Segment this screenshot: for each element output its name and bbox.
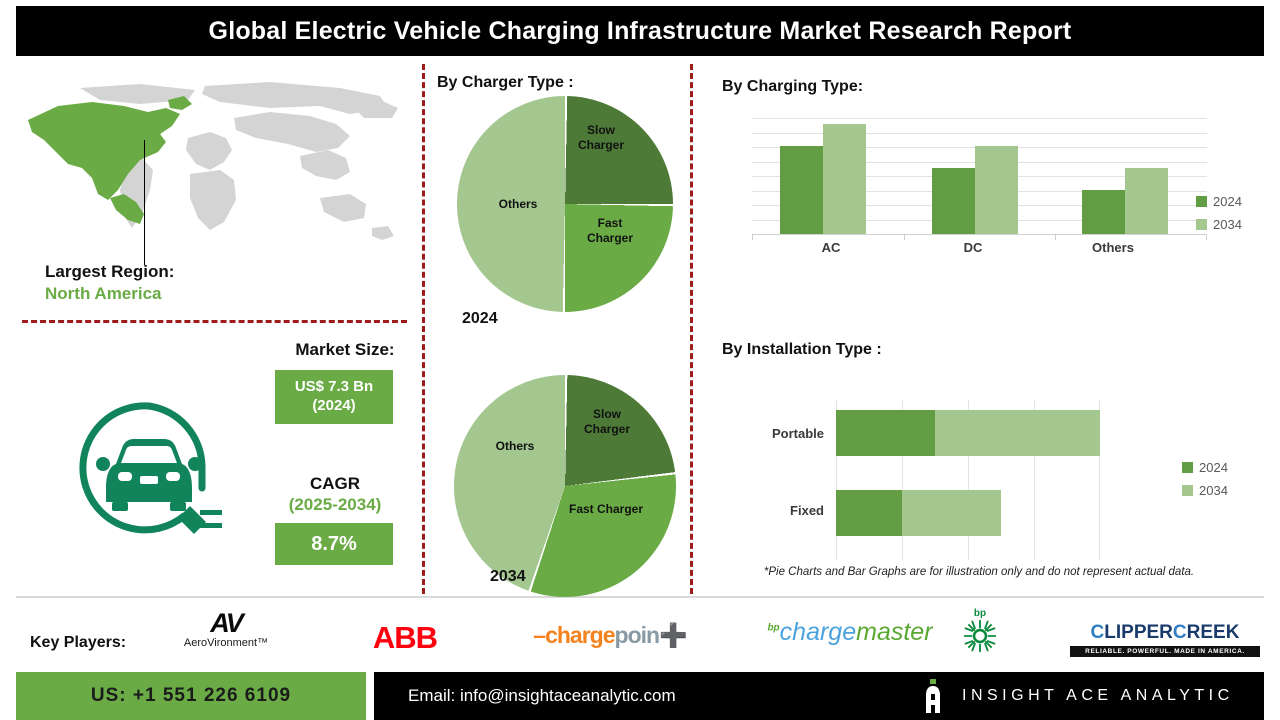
map-leader-line [144,140,145,265]
legend-label-2034: 2034 [1199,483,1228,498]
pie2024-slow-label: SlowCharger [571,123,631,153]
clippercreek-mark-d: REEK [1187,622,1240,643]
cagr-value-box: 8.7% [275,523,393,565]
installation-type-legend: 2024 2034 [1182,460,1228,506]
logo-aerovironment: AV AeroVironment™ [166,608,286,649]
category-label-portable: Portable [724,426,824,441]
footer-brand-text: INSIGHT ACE ANALYTIC [962,687,1234,705]
category-label-fixed: Fixed [724,503,824,518]
bp-helios-icon [963,619,997,653]
chart-disclaimer: *Pie Charts and Bar Graphs are for illus… [744,566,1214,578]
legend-item-2034: 2034 [1196,217,1242,232]
clippercreek-mark-c: C [1173,622,1187,643]
legend-label-2024: 2024 [1199,460,1228,475]
aerovironment-mark: AV [166,608,286,639]
ev-charging-car-icon [66,392,232,558]
clippercreek-mark: CLIPPERCREEK [1070,622,1260,644]
bar-dc-2024 [932,168,975,234]
charging-type-legend: 2024 2034 [1196,194,1242,240]
gridline [752,118,1207,119]
axis-tick [752,235,753,240]
charging-type-title: By Charging Type: [722,78,863,96]
pie-chart-2034 [454,375,676,597]
market-size-year: (2024) [312,397,355,416]
legend-item-2024: 2024 [1196,194,1242,209]
market-size-value: US$ 7.3 Bn [295,378,373,397]
cagr-label: CAGR [272,474,398,494]
footer-phone-block[interactable]: US: +1 551 226 6109 [16,672,366,720]
chargemaster-mark-b: master [856,618,932,646]
market-size-value-box: US$ 7.3 Bn (2024) [275,370,393,424]
pie2024-others-label: Others [488,197,548,212]
axis-tick [904,235,905,240]
logo-bp: bp [950,608,1010,658]
divider-vertical-left [422,64,425,594]
legend-item-2034: 2034 [1182,483,1228,498]
charger-type-title: By Charger Type : [437,74,574,92]
footer-black-bar: Email: info@insightaceanalytic.com INSIG… [374,672,1264,720]
hbar-portable-2024 [836,410,935,456]
legend-swatch-2024 [1196,196,1207,207]
chargepoint-mark-b: poin➕ [615,622,687,648]
category-label-ac: AC [786,240,876,255]
bar-others-2024 [1082,190,1125,234]
chargemaster-bp-sup: bp [767,623,779,634]
pie2034-fast-label: Fast Charger [556,502,656,517]
installation-type-title: By Installation Type : [722,341,882,359]
header-banner: Global Electric Vehicle Charging Infrast… [16,6,1264,56]
infographic-page: Global Electric Vehicle Charging Infrast… [0,0,1280,720]
bar-dc-2034 [975,146,1018,234]
divider-vertical-right [690,64,693,594]
abb-mark: ABB [340,620,470,656]
aerovironment-name: AeroVironment™ [166,637,286,649]
footer-email-text[interactable]: Email: info@insightaceanalytic.com [408,686,676,706]
pie2034-others-label: Others [485,439,545,454]
insightace-logo-icon [920,679,946,713]
logo-bp-chargemaster: bpchargemaster [750,618,950,647]
hbar-fixed-2024 [836,490,902,536]
world-map-svg [20,78,410,268]
largest-region-label: Largest Region: [45,262,174,282]
clippercreek-mark-b: LIPPER [1104,622,1173,643]
bar-ac-2034 [823,124,866,234]
hbar-fixed-2034 [902,490,1001,536]
legend-label-2024: 2024 [1213,194,1242,209]
legend-item-2024: 2024 [1182,460,1228,475]
pie2024-year: 2024 [462,310,498,328]
logo-clippercreek: CLIPPERCREEK RELIABLE. POWERFUL. MADE IN… [1070,622,1260,657]
chargepoint-mark-a: –charge [533,622,614,648]
clippercreek-mark-a: C [1091,622,1105,643]
largest-region-value: North America [45,284,174,304]
cagr-value: 8.7% [311,533,357,556]
market-size-label: Market Size: [280,340,410,360]
world-map [20,78,410,268]
footer-brand: INSIGHT ACE ANALYTIC [920,679,1234,713]
bar-ac-2024 [780,146,823,234]
largest-region-block: Largest Region: North America [45,262,174,304]
pie2024-fast-label: FastCharger [580,216,640,246]
bp-wordmark: bp [950,608,1010,619]
installation-type-chart [836,400,1100,560]
logo-abb: ABB [340,620,470,656]
key-players-label: Key Players: [30,634,126,652]
category-label-others: Others [1068,240,1158,255]
footer-phone-text: US: +1 551 226 6109 [91,685,291,707]
page-title: Global Electric Vehicle Charging Infrast… [209,17,1072,46]
bar-others-2034 [1125,168,1168,234]
pie2034-slow-label: SlowCharger [574,407,640,437]
axis-tick [1055,235,1056,240]
insightace-logo-svg [920,679,946,713]
divider-key-players [16,596,1264,598]
chargemaster-mark-a: charge [780,618,856,646]
logo-chargepoint: –chargepoin➕ [520,622,700,649]
chargemaster-mark: bpchargemaster [750,618,950,647]
hbar-portable-2034 [935,410,1100,456]
cagr-years: (2025-2034) [268,495,402,515]
legend-swatch-2034 [1182,485,1193,496]
ev-charging-car-icon-svg [66,392,232,558]
divider-horizontal-left [22,320,407,323]
legend-label-2034: 2034 [1213,217,1242,232]
x-axis [752,234,1207,235]
clippercreek-tagline: RELIABLE. POWERFUL. MADE IN AMERICA. [1070,646,1260,657]
chargepoint-mark: –chargepoin➕ [520,622,700,649]
gridline [752,133,1207,134]
legend-swatch-2024 [1182,462,1193,473]
pie2034-year: 2034 [490,568,526,586]
legend-swatch-2034 [1196,219,1207,230]
charging-type-chart [752,118,1207,235]
category-label-dc: DC [928,240,1018,255]
